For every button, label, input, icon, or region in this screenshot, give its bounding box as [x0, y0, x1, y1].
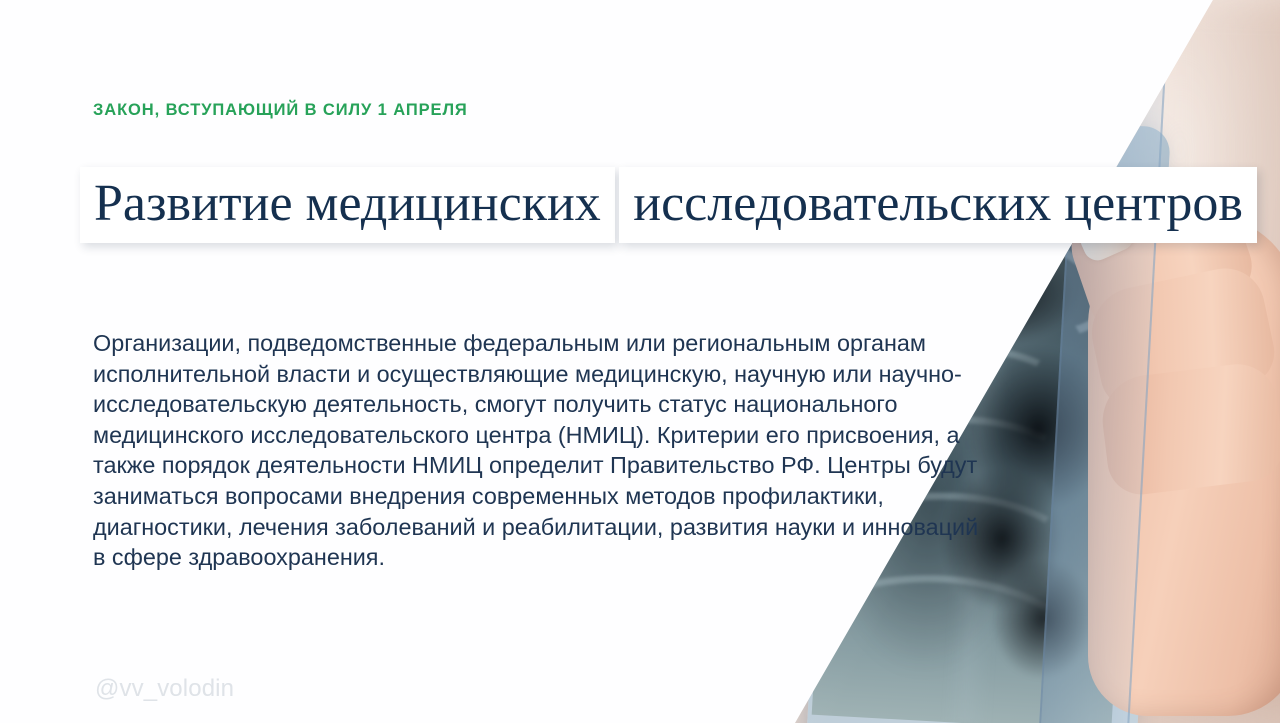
body-text: Организации, подведомственные федеральны…	[93, 328, 993, 573]
page-title-line-1: Развитие медицинских	[80, 167, 615, 243]
slide-root: ЗАКОН, ВСТУПАЮЩИЙ В СИЛУ 1 АПРЕЛЯ Развит…	[0, 0, 1280, 723]
page-title: Развитие медицинских исследовательских ц…	[80, 158, 1257, 243]
page-title-line-2: исследовательских центров	[619, 167, 1257, 243]
body-paragraph: Организации, подведомственные федеральны…	[93, 328, 993, 573]
eyebrow-label: ЗАКОН, ВСТУПАЮЩИЙ В СИЛУ 1 АПРЕЛЯ	[93, 101, 468, 120]
watermark-handle: @vv_volodin	[95, 675, 234, 703]
